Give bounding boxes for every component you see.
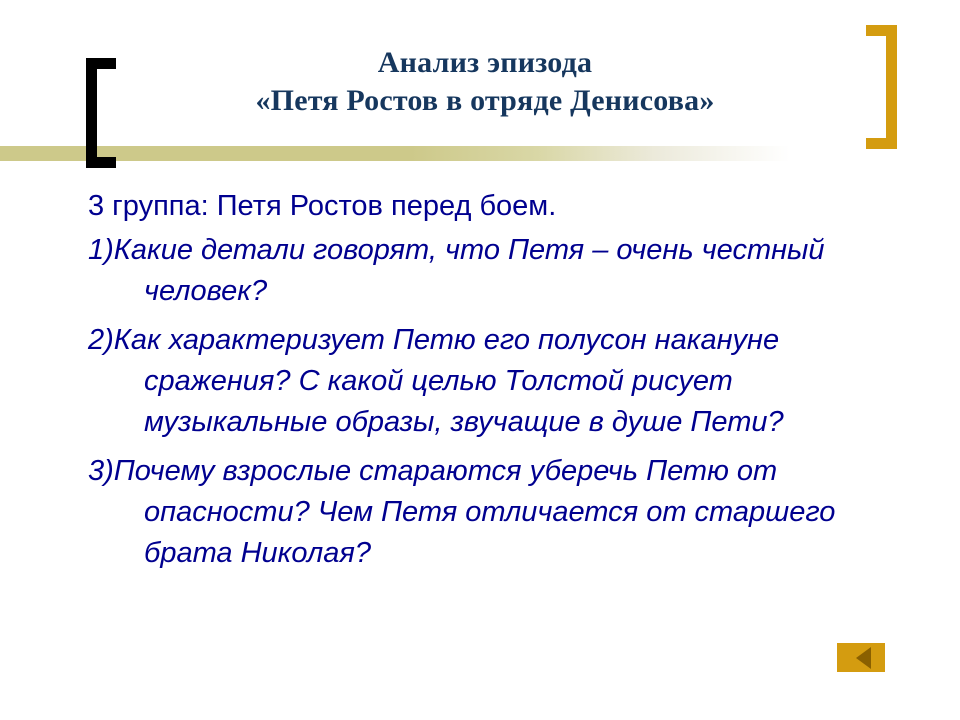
left-bracket-decoration <box>86 58 116 168</box>
triangle-left-icon <box>856 647 871 669</box>
question-item-3: 3)Почему взрослые стараются уберечь Петю… <box>88 451 864 574</box>
question-item-2: 2)Как характеризует Петю его полусон нак… <box>88 320 864 443</box>
right-bracket-decoration <box>866 25 897 149</box>
header-decorative-band <box>0 146 790 161</box>
question-item-1: 1)Какие детали говорят, что Петя – очень… <box>88 230 864 312</box>
presentation-slide: Анализ эпизода «Петя Ростов в отряде Ден… <box>0 0 960 720</box>
group-heading: 3 группа: Петя Ростов перед боем. <box>88 186 878 227</box>
back-navigation-button[interactable] <box>837 643 885 672</box>
slide-body: 3 группа: Петя Ростов перед боем. 1)Каки… <box>88 186 878 574</box>
slide-title: Анализ эпизода «Петя Ростов в отряде Ден… <box>120 44 850 120</box>
slide-title-line-2: «Петя Ростов в отряде Денисова» <box>120 82 850 120</box>
slide-title-line-1: Анализ эпизода <box>120 44 850 82</box>
